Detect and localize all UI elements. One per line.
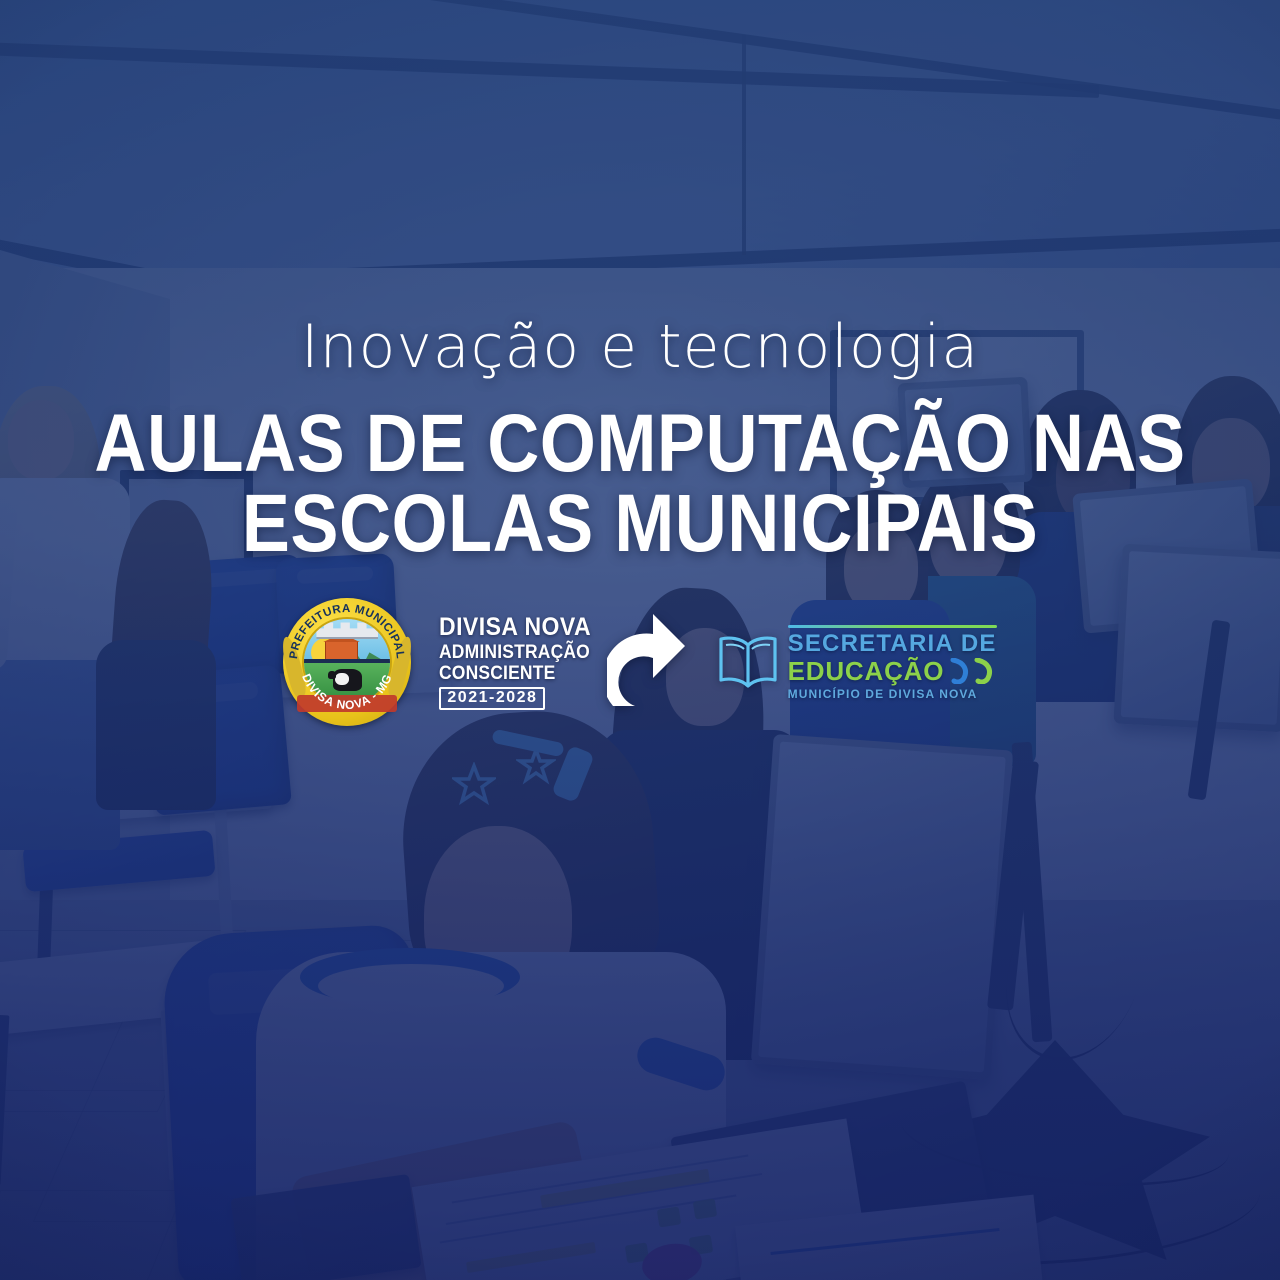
education-swooshes (950, 658, 994, 684)
education-line-1: SECRETARIA DE (788, 632, 997, 656)
education-accent-rule (788, 625, 997, 628)
svg-text:PREFEITURA MUNICIPAL: PREFEITURA MUNICIPAL (288, 603, 406, 660)
administration-years-badge: 2021-2028 (439, 687, 545, 710)
seal-text-ring: PREFEITURA MUNICIPAL DIVISA NOVA - MG (283, 598, 411, 726)
administration-line-3: CONSCIENTE (439, 664, 591, 683)
education-text: SECRETARIA DE EDUCAÇÃO MUNICÍPIO DE (788, 625, 997, 700)
upward-curved-arrow-icon (607, 608, 689, 716)
svg-text:DIVISA NOVA - MG: DIVISA NOVA - MG (300, 672, 396, 713)
poster-headline: AULAS DE COMPUTAÇÃO NAS ESCOLAS MUNICIPA… (77, 404, 1203, 565)
education-line-2: EDUCAÇÃO (788, 658, 945, 684)
poster-content: Inovação e tecnologia AULAS DE COMPUTAÇÃ… (0, 0, 1280, 1280)
administration-line-1: DIVISA NOVA (439, 615, 591, 640)
education-line-3: MUNICÍPIO DE DIVISA NOVA (788, 688, 997, 700)
administration-text: DIVISA NOVA ADMINISTRAÇÃO CONSCIENTE 202… (439, 615, 604, 710)
open-book-icon (717, 632, 779, 692)
education-secretariat-logo: SECRETARIA DE EDUCAÇÃO MUNICÍPIO DE (717, 625, 997, 700)
headline-line-2: ESCOLAS MUNICIPAIS (77, 484, 1203, 564)
headline-line-1: AULAS DE COMPUTAÇÃO NAS (77, 404, 1203, 484)
seal-bottom-text: DIVISA NOVA - MG (300, 672, 396, 713)
administration-line-2: ADMINISTRAÇÃO (439, 643, 591, 662)
education-line-2-row: EDUCAÇÃO (788, 658, 997, 684)
blue-swoosh-icon (950, 658, 970, 684)
green-swoosh-icon (974, 658, 994, 684)
prefeitura-seal-logo: PREFEITURA MUNICIPAL DIVISA NOVA - MG (283, 598, 411, 726)
logo-row: PREFEITURA MUNICIPAL DIVISA NOVA - MG DI… (0, 598, 1280, 726)
seal-top-text: PREFEITURA MUNICIPAL (288, 603, 406, 660)
poster-canvas: Inovação e tecnologia AULAS DE COMPUTAÇÃ… (0, 0, 1280, 1280)
administration-logo: DIVISA NOVA ADMINISTRAÇÃO CONSCIENTE 202… (439, 608, 688, 716)
poster-subtitle: Inovação e tecnologia (0, 317, 1280, 377)
